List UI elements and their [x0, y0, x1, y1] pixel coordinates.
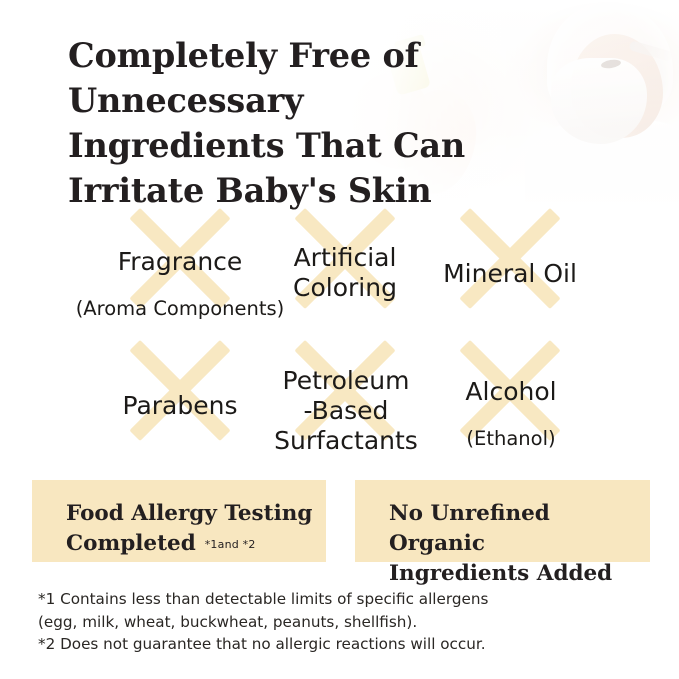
- claim-banner-no-unrefined-organic: No Unrefined Organic Ingredients Added: [355, 480, 650, 562]
- claim-banner-allergy-testing: Food Allergy Testing Completed*1and *2: [32, 480, 326, 562]
- ingredient-item-parabens: Parabens: [100, 372, 260, 440]
- ingredient-name: Artificial Coloring: [265, 243, 425, 303]
- claim-text: Food Allergy Testing Completed: [66, 501, 312, 556]
- ingredient-name: Parabens: [100, 391, 260, 421]
- footnotes: *1 Contains less than detectable limits …: [38, 588, 638, 656]
- claim-banner-text: No Unrefined Organic Ingredients Added: [389, 499, 640, 589]
- ingredient-name: Alcohol: [432, 377, 590, 407]
- claim-banner-text: Food Allergy Testing Completed*1and *2: [66, 499, 316, 560]
- product-claim-infographic: Completely Free of Unnecessary Ingredien…: [0, 0, 679, 679]
- ingredient-name: Fragrance: [60, 247, 300, 277]
- claim-footnote-ref: *1and *2: [205, 538, 256, 551]
- claim-text: No Unrefined Organic Ingredients Added: [389, 501, 612, 586]
- ingredient-item-fragrance: Fragrance (Aroma Components): [60, 228, 300, 341]
- ingredient-item-mineral-oil: Mineral Oil: [425, 240, 595, 308]
- ingredient-item-petroleum-surfactants: Petroleum -Based Surfactants: [263, 347, 429, 475]
- mask-strap-shape: [628, 40, 673, 62]
- ingredient-name: Mineral Oil: [425, 259, 595, 289]
- ingredient-name: Petroleum -Based Surfactants: [263, 366, 429, 456]
- ingredient-subtitle: (Ethanol): [432, 426, 590, 452]
- page-title: Completely Free of Unnecessary Ingredien…: [68, 33, 628, 213]
- ingredient-item-alcohol: Alcohol (Ethanol): [432, 358, 590, 471]
- ingredient-item-artificial-coloring: Artificial Coloring: [265, 224, 425, 322]
- ingredient-subtitle: (Aroma Components): [60, 296, 300, 322]
